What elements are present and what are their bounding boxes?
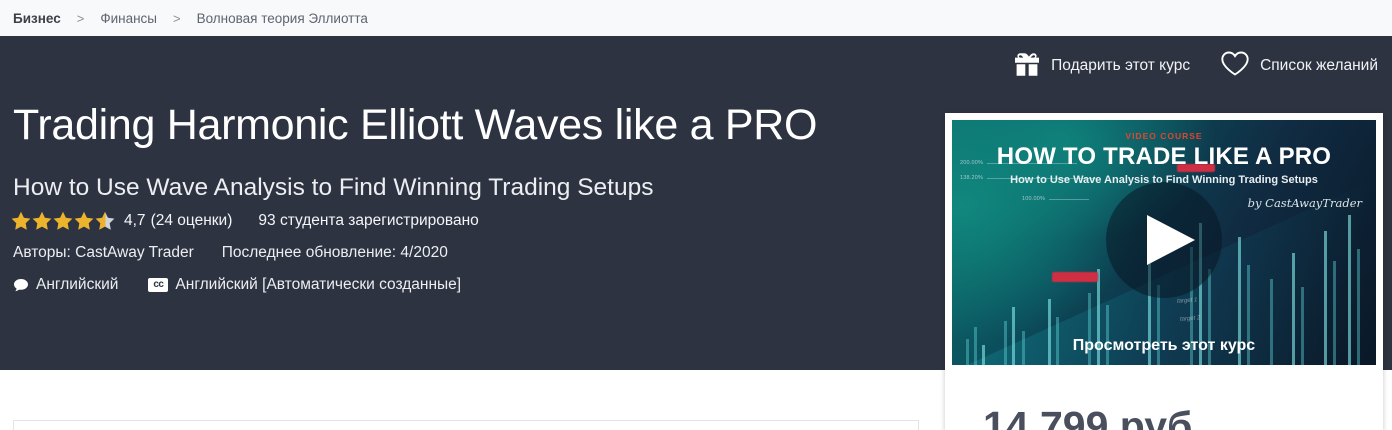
heart-icon [1220, 50, 1250, 82]
rating-stars[interactable] [11, 211, 115, 230]
breadcrumb-item-elliott-wave-theory[interactable]: Волновая теория Эллиотта [197, 11, 368, 26]
enrolled-count: 93 студента зарегистрировано [258, 212, 478, 230]
wishlist-label: Список желаний [1260, 57, 1378, 75]
page-title: Trading Harmonic Elliott Waves like a PR… [13, 102, 817, 148]
breadcrumb: Бизнес > Финансы > Волновая теория Эллио… [0, 0, 1392, 36]
play-icon[interactable] [1147, 215, 1195, 265]
breadcrumb-item-finance[interactable]: Финансы [100, 11, 157, 26]
course-price: 14 799 руб. [983, 403, 1204, 430]
authors-label[interactable]: Авторы: CastAway Trader [13, 244, 194, 262]
captions-language: cc Английский [Автоматически созданные] [148, 276, 461, 294]
thumbnail-signature: by CastAwayTrader [1248, 196, 1362, 210]
gift-this-course-button[interactable]: Подарить этот курс [1013, 51, 1190, 82]
wishlist-button[interactable]: Список желаний [1220, 50, 1378, 82]
star-icon-full [32, 211, 52, 230]
star-icon-full [74, 211, 94, 230]
course-landing-page: Бизнес > Финансы > Волновая теория Эллио… [0, 0, 1392, 430]
preview-course-label[interactable]: Просмотреть этот курс [952, 337, 1376, 355]
rating-count[interactable]: (24 оценки) [151, 212, 233, 230]
breadcrumb-separator: > [77, 11, 85, 26]
rating-row: 4,7 (24 оценки) 93 студента зарегистриро… [11, 211, 479, 230]
audio-language-label: Английский [36, 276, 118, 294]
course-preview-thumbnail[interactable]: 200.00% 138.20% 100.00% target 1 target … [952, 120, 1376, 365]
thumbnail-headline: HOW TO TRADE LIKE A PRO [952, 143, 1376, 171]
rating-value: 4,7 [124, 212, 146, 230]
speech-bubble-icon [13, 278, 29, 293]
fib-level-3: 100.00% [1022, 196, 1089, 202]
breadcrumb-separator: > [173, 11, 181, 26]
authors-row: Авторы: CastAway Trader Последнее обновл… [13, 244, 448, 262]
star-icon-full [11, 211, 31, 230]
audio-language: Английский [13, 276, 118, 294]
star-icon-full [53, 211, 73, 230]
gift-icon [1013, 51, 1041, 82]
content-panel-below-hero [13, 420, 919, 430]
last-update-label: Последнее обновление: 4/2020 [222, 244, 448, 262]
thumbnail-marker-2 [1052, 272, 1098, 282]
captions-language-label: Английский [Автоматически созданные] [175, 276, 461, 294]
video-course-badge: VIDEO COURSE [952, 131, 1376, 141]
star-icon-half [95, 211, 115, 230]
purchase-card: 200.00% 138.20% 100.00% target 1 target … [945, 113, 1383, 430]
gift-this-course-label: Подарить этот курс [1051, 57, 1190, 75]
course-subtitle: How to Use Wave Analysis to Find Winning… [13, 174, 653, 202]
breadcrumb-item-business[interactable]: Бизнес [13, 11, 61, 26]
hero-action-bar: Подарить этот курс Список желаний [1013, 50, 1378, 82]
cc-icon: cc [148, 278, 168, 292]
language-row: Английский cc Английский [Автоматически … [13, 276, 461, 294]
